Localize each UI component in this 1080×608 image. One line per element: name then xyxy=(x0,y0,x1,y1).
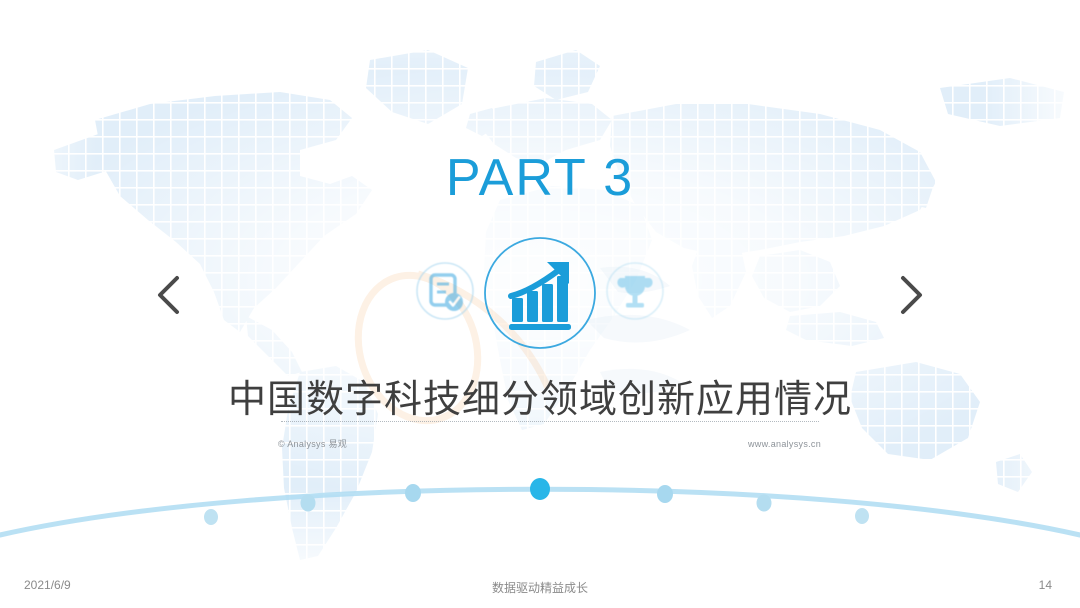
page-number: 14 xyxy=(1039,578,1052,592)
trophy-icon xyxy=(604,260,666,322)
progress-dots xyxy=(204,478,869,525)
icon-cluster xyxy=(410,234,670,356)
footer-slogan: 数据驱动精益成长 xyxy=(0,579,1080,596)
chevron-right-icon[interactable] xyxy=(888,272,934,318)
chevron-left-icon[interactable] xyxy=(146,272,192,318)
copyright-text: © Analysys 易观 xyxy=(278,437,347,450)
document-check-icon xyxy=(414,260,476,322)
title-divider xyxy=(281,421,819,423)
slide-root: PART 3 xyxy=(0,0,1080,608)
part-label: PART 3 xyxy=(0,148,1080,208)
bar-chart-growth-icon xyxy=(481,234,599,352)
website-url[interactable]: www.analysys.cn xyxy=(748,439,821,449)
progress-arc xyxy=(0,460,1080,550)
page-title: 中国数字科技细分领域创新应用情况 xyxy=(0,368,1080,423)
